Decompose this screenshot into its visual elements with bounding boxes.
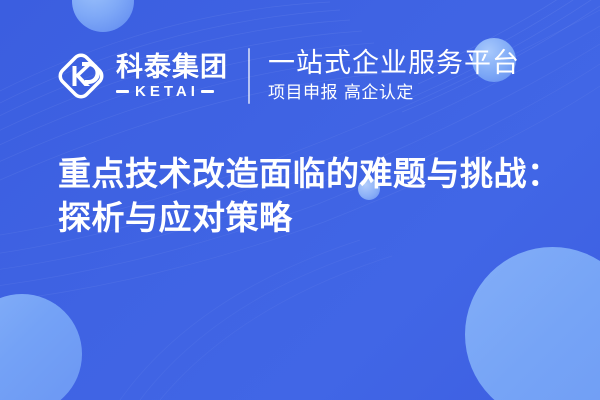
slogan-block: 一站式企业服务平台 项目申报 高企认定 <box>268 49 520 104</box>
page-title: 重点技术改造面临的难题与挑战： 探析与应对策略 <box>58 152 558 240</box>
logo-name-cn: 科泰集团 <box>116 53 228 81</box>
logo-name-en: KETAI <box>135 84 199 99</box>
banner-header: 科泰集团 KETAI 一站式企业服务平台 项目申报 高企认定 <box>56 44 520 108</box>
decor-circle-bottom-left <box>0 294 82 400</box>
page-title-line-1: 重点技术改造面临的难题与挑战： <box>58 152 558 196</box>
header-divider <box>248 48 250 104</box>
slogan-sub-text: 项目申报 高企认定 <box>268 83 520 103</box>
promo-banner: 科泰集团 KETAI 一站式企业服务平台 项目申报 高企认定 重点技术改造面临的… <box>0 0 600 400</box>
decor-circle-top-left <box>72 0 134 32</box>
logo-wordmark: 科泰集团 KETAI <box>116 53 228 99</box>
decor-circle-bottom-right <box>465 247 600 400</box>
page-title-line-2: 探析与应对策略 <box>58 196 558 240</box>
ketai-diamond-logo-icon <box>56 51 106 101</box>
logo-dash-left-icon <box>116 90 129 93</box>
slogan-main-text: 一站式企业服务平台 <box>268 49 520 79</box>
logo-dash-right-icon <box>201 90 214 93</box>
logo-name-en-row: KETAI <box>116 84 228 99</box>
